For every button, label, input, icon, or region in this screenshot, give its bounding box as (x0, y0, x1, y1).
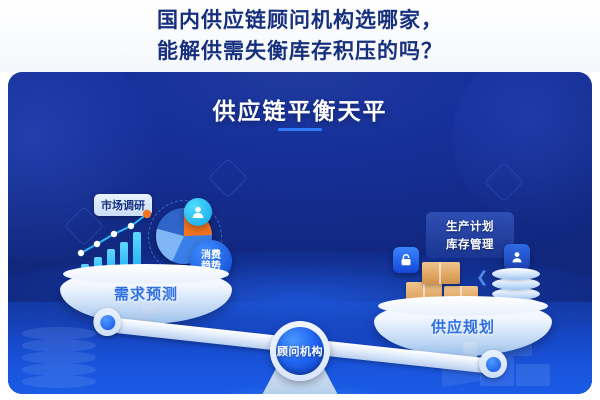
pan-right-rim (378, 296, 549, 316)
plaque-line-2: 库存管理 (446, 236, 494, 252)
pan-left-rim (63, 264, 228, 284)
trend-badge-line-1: 消费 (201, 250, 221, 261)
headline-line-2: 能解供需失衡库存积压的吗？ (157, 37, 443, 66)
pan-left-label: 需求预测 (60, 283, 232, 304)
headline-line-1: 国内供应链顾问机构选哪家， (157, 6, 443, 35)
decor-diamond-2 (208, 158, 248, 198)
infographic-canvas: 国内供应链顾问机构选哪家， 能解供需失衡库存积压的吗？ 供应链平衡天平 市场调研 (0, 0, 600, 400)
plaque-line-1: 生产计划 (446, 218, 494, 234)
headline-block: 国内供应链顾问机构选哪家， 能解供需失衡库存积压的吗？ (0, 0, 600, 72)
trend-line (76, 208, 154, 264)
plaque-production-inventory: 生产计划 库存管理 (426, 212, 514, 258)
main-illustration-panel: 供应链平衡天平 市场调研 消费 趋势 生产计 (8, 72, 592, 394)
decor-diamond-3 (484, 162, 524, 202)
panel-title: 供应链平衡天平 (8, 92, 592, 126)
person-icon (184, 198, 212, 226)
title-underline (278, 128, 322, 131)
hub-label: 顾问机构 (277, 343, 323, 359)
hub-inner: 顾问机构 (276, 327, 324, 375)
balance-hub: 顾问机构 (270, 321, 330, 381)
pan-right-label: 供应规划 (374, 316, 552, 337)
